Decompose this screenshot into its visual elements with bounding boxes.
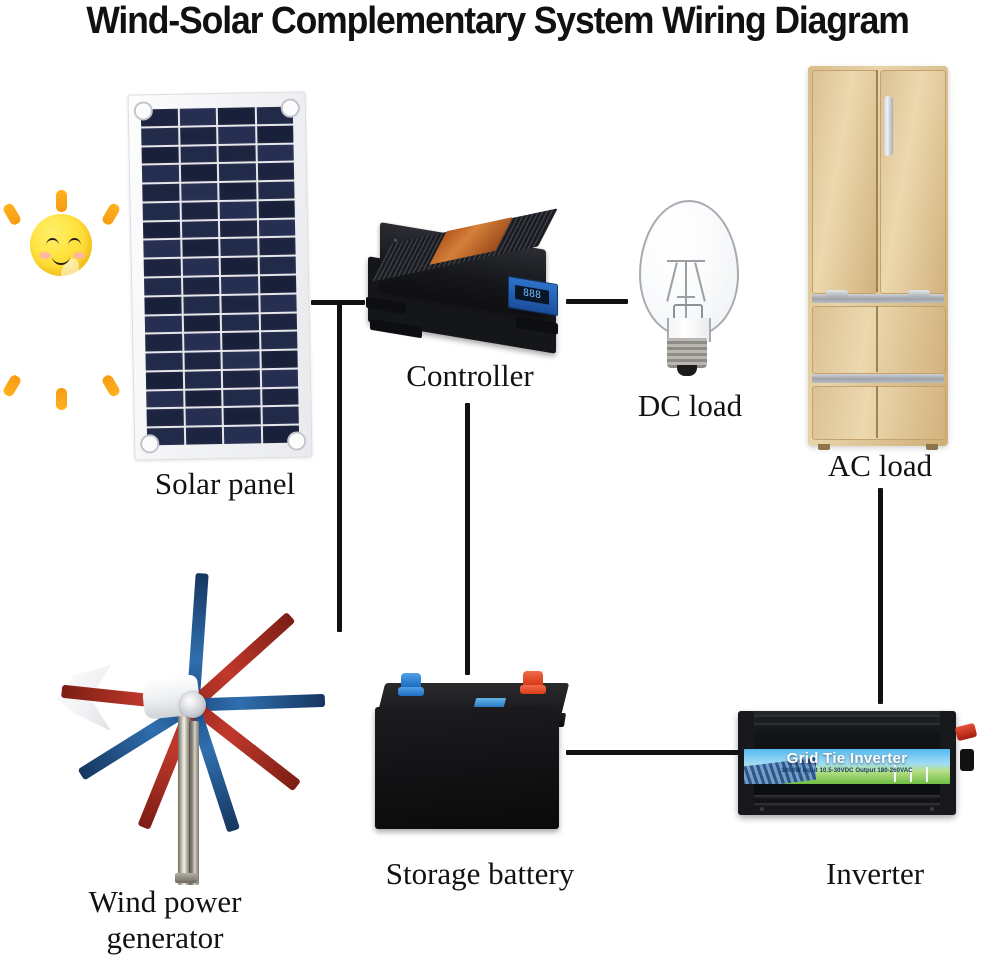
wind-turbine-icon [55,525,330,885]
solar-cell [222,351,259,368]
fridge-handle-drawer-upper-left [826,290,848,297]
solar-panel-grommet [287,431,306,450]
solar-cell [185,408,222,425]
inverter-output-terminal [955,723,978,741]
solar-cell [180,127,217,144]
sun-eye-left [46,238,59,246]
solar-cell [224,426,261,443]
battery-terminal-positive [523,671,543,693]
sun-eye-right [68,238,81,246]
solar-cell [146,372,183,389]
wind-generator-label-line1: Wind power [89,884,242,919]
wind-generator-label: Wind powergenerator [20,884,310,956]
fridge-handle-vertical [884,96,893,156]
solar-cell [259,238,296,255]
solar-cell [224,408,261,425]
inverter-side-port [960,749,974,771]
solar-cell [257,125,294,142]
solar-cell [261,369,298,386]
solar-cell [147,409,184,426]
sun-blush-right [73,252,85,259]
solar-panel-label: Solar panel [120,466,330,502]
solar-cell [261,332,298,349]
solar-cell [260,276,297,293]
solar-cell [145,334,182,351]
solar-panel-grommet [281,98,300,117]
solar-cell [260,313,297,330]
solar-cell [142,184,179,201]
dc-load-label: DC load [600,388,780,424]
solar-cell [221,295,258,312]
battery-to-inverter-wire [566,750,741,755]
solar-cell [260,294,297,311]
solar-cell [258,182,295,199]
inverter-brand-label: Grid Tie Inverter 1000W Input 10.5-30VDC… [744,749,950,784]
controller-icon: 888 [366,228,566,346]
inverter-label: Inverter [765,856,985,892]
solar-cell [184,371,221,388]
bulb-screw-base [667,338,707,368]
battery-label [474,698,506,707]
solar-cell [184,333,221,350]
controller-to-dc-load-wire [566,299,628,304]
light-bulb-icon [627,200,747,375]
solar-cell [218,107,255,124]
solar-cell [220,220,257,237]
solar-cell [183,315,220,332]
solar-cell [182,258,219,275]
sun-blush-left [39,252,51,259]
solar-cell [219,164,256,181]
sun-face [30,214,92,276]
fridge-handle-drawer-upper-right [908,290,930,297]
solar-cell [183,296,220,313]
solar-cell [179,108,216,125]
solar-cell [142,146,179,163]
solar-cell [181,221,218,238]
solar-panel-grommet [140,434,159,453]
controller-to-battery-wire [465,403,470,675]
solar-cell [257,144,294,161]
wiring-diagram-canvas: Wind-Solar Complementary System Wiring D… [0,0,995,972]
solar-cell [142,165,179,182]
solar-cell [223,370,260,387]
solar-cell [180,146,217,163]
solar-cell [223,389,260,406]
solar-cell [180,164,217,181]
solar-cell [145,315,182,332]
controller-label: Controller [360,358,580,394]
solar-cell [262,388,299,405]
solar-cell [181,183,218,200]
solar-cell [220,239,257,256]
controller-display-value: 888 [523,288,541,301]
solar-cell [259,257,296,274]
solar-cell [221,276,258,293]
fridge-door-left [812,70,877,294]
refrigerator-icon [808,66,948,446]
solar-cell [182,239,219,256]
fridge-drawer-lower [812,386,946,440]
inverter-to-ac-load-wire [878,488,883,704]
inverter-icon: Grid Tie Inverter 1000W Input 10.5-30VDC… [738,703,966,821]
bus-to-wind-wire [337,300,342,632]
solar-panel-icon [128,91,313,460]
fridge-drawer-upper [812,306,946,374]
solar-cell [144,278,181,295]
solar-cell [144,297,181,314]
solar-cell [218,145,255,162]
solar-cell [258,200,295,217]
solar-cell [218,126,255,143]
solar-cell [183,277,220,294]
solar-cell [145,353,182,370]
sun-icon [6,190,116,300]
inverter-brand-text: Grid Tie Inverter [744,750,950,767]
solar-cell [222,333,259,350]
storage-battery-label: Storage battery [330,856,630,892]
wind-generator-label-line2: generator [106,920,223,955]
solar-cell [258,219,295,236]
battery-icon [375,665,575,835]
solar-cell [144,259,181,276]
solar-cell [219,182,256,199]
solar-cell [141,128,178,145]
solar-cell [185,427,222,444]
solar-cell [185,390,222,407]
solar-cell [257,163,294,180]
solar-cell [143,221,180,238]
battery-terminal-negative [401,673,421,695]
inverter-spec-text: 1000W Input 10.5-30VDC Output 180-260VAC [744,768,950,774]
page-title: Wind-Solar Complementary System Wiring D… [32,0,962,44]
solar-cell [221,258,258,275]
solar-cell [261,351,298,368]
solar-cell [143,240,180,257]
solar-cell [184,352,221,369]
ac-load-label: AC load [790,448,970,484]
solar-cell [220,201,257,218]
solar-cell [146,390,183,407]
solar-cell [262,407,299,424]
solar-cell [181,202,218,219]
turbine-hub [180,692,206,718]
solar-cell [143,203,180,220]
solar-cell [222,314,259,331]
